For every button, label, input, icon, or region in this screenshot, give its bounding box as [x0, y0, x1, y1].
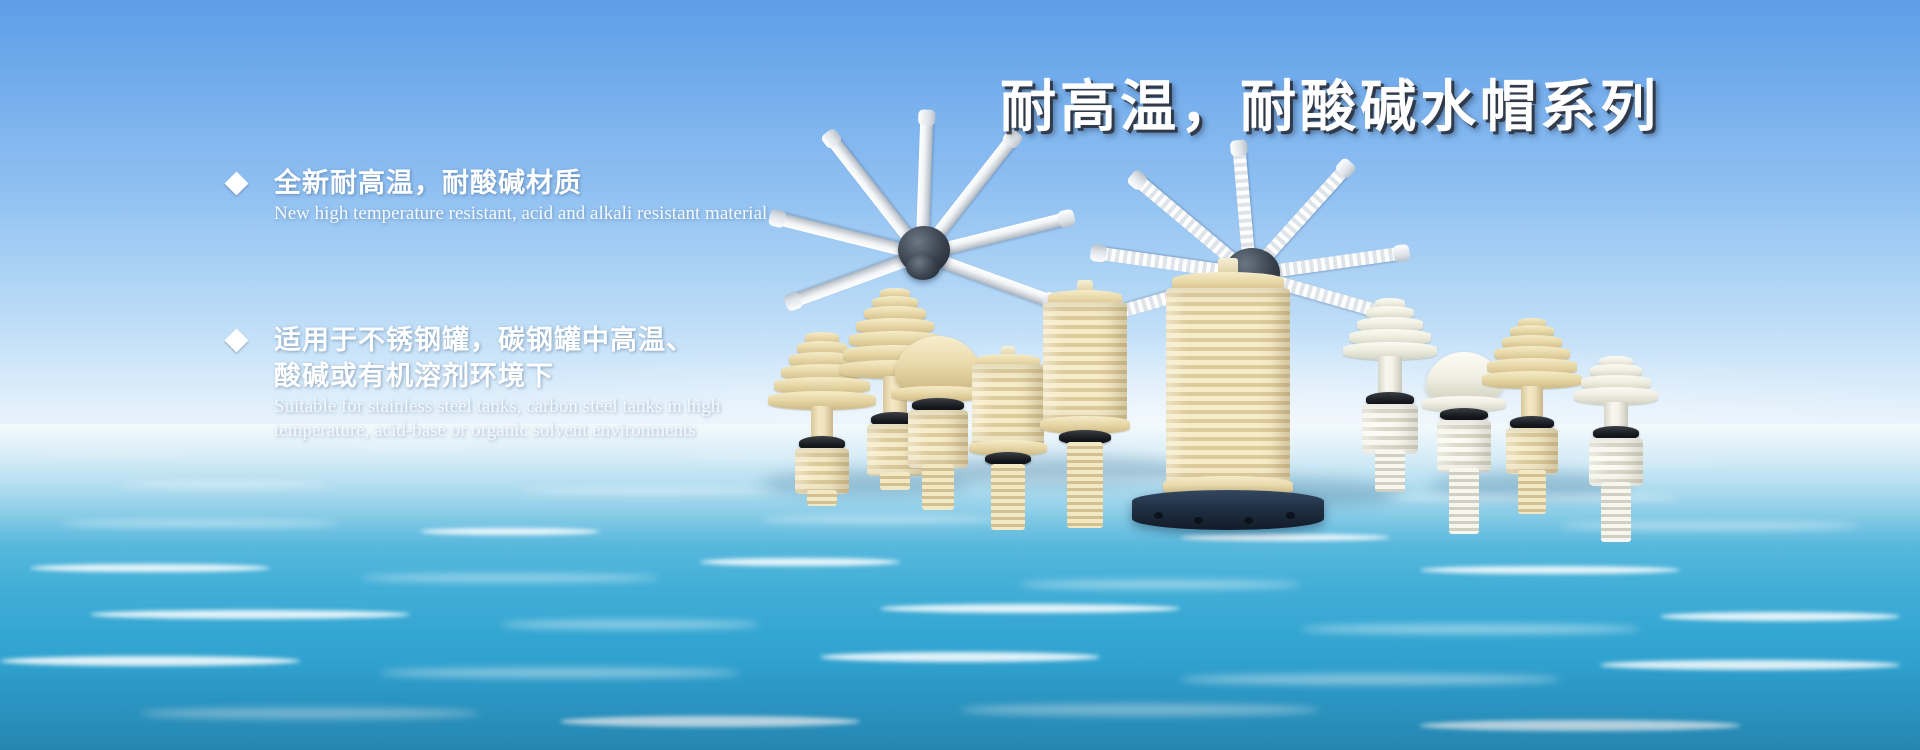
feature-title-cn: 适用于不锈钢罐，碳钢罐中高温、 酸碱或有机溶剂环境下 — [274, 322, 1048, 394]
feature-item-1: 全新耐高温，耐酸碱材质 New high temperature resista… — [228, 165, 1048, 226]
feature-item-2: 适用于不锈钢罐，碳钢罐中高温、 酸碱或有机溶剂环境下 Suitable for … — [228, 322, 1048, 443]
feature-title-cn: 全新耐高温，耐酸碱材质 — [274, 165, 1048, 201]
diamond-bullet-icon — [224, 328, 248, 352]
banner-stage: 耐高温，耐酸碱水帽系列 全新耐高温，耐酸碱材质 New high tempera… — [0, 0, 1920, 750]
page-title: 耐高温，耐酸碱水帽系列 — [1000, 62, 1660, 143]
feature-list: 全新耐高温，耐酸碱材质 New high temperature resista… — [228, 165, 1048, 443]
base-flange — [1132, 490, 1324, 530]
water-depth-shade — [0, 660, 1920, 750]
feature-title-en: New high temperature resistant, acid and… — [274, 202, 1048, 226]
bell-cap-nozzle — [1556, 356, 1676, 546]
flanged-column-filter — [1118, 258, 1338, 558]
feature-title-en: Suitable for stainless steel tanks, carb… — [274, 395, 1048, 443]
diamond-bullet-icon — [224, 171, 248, 195]
